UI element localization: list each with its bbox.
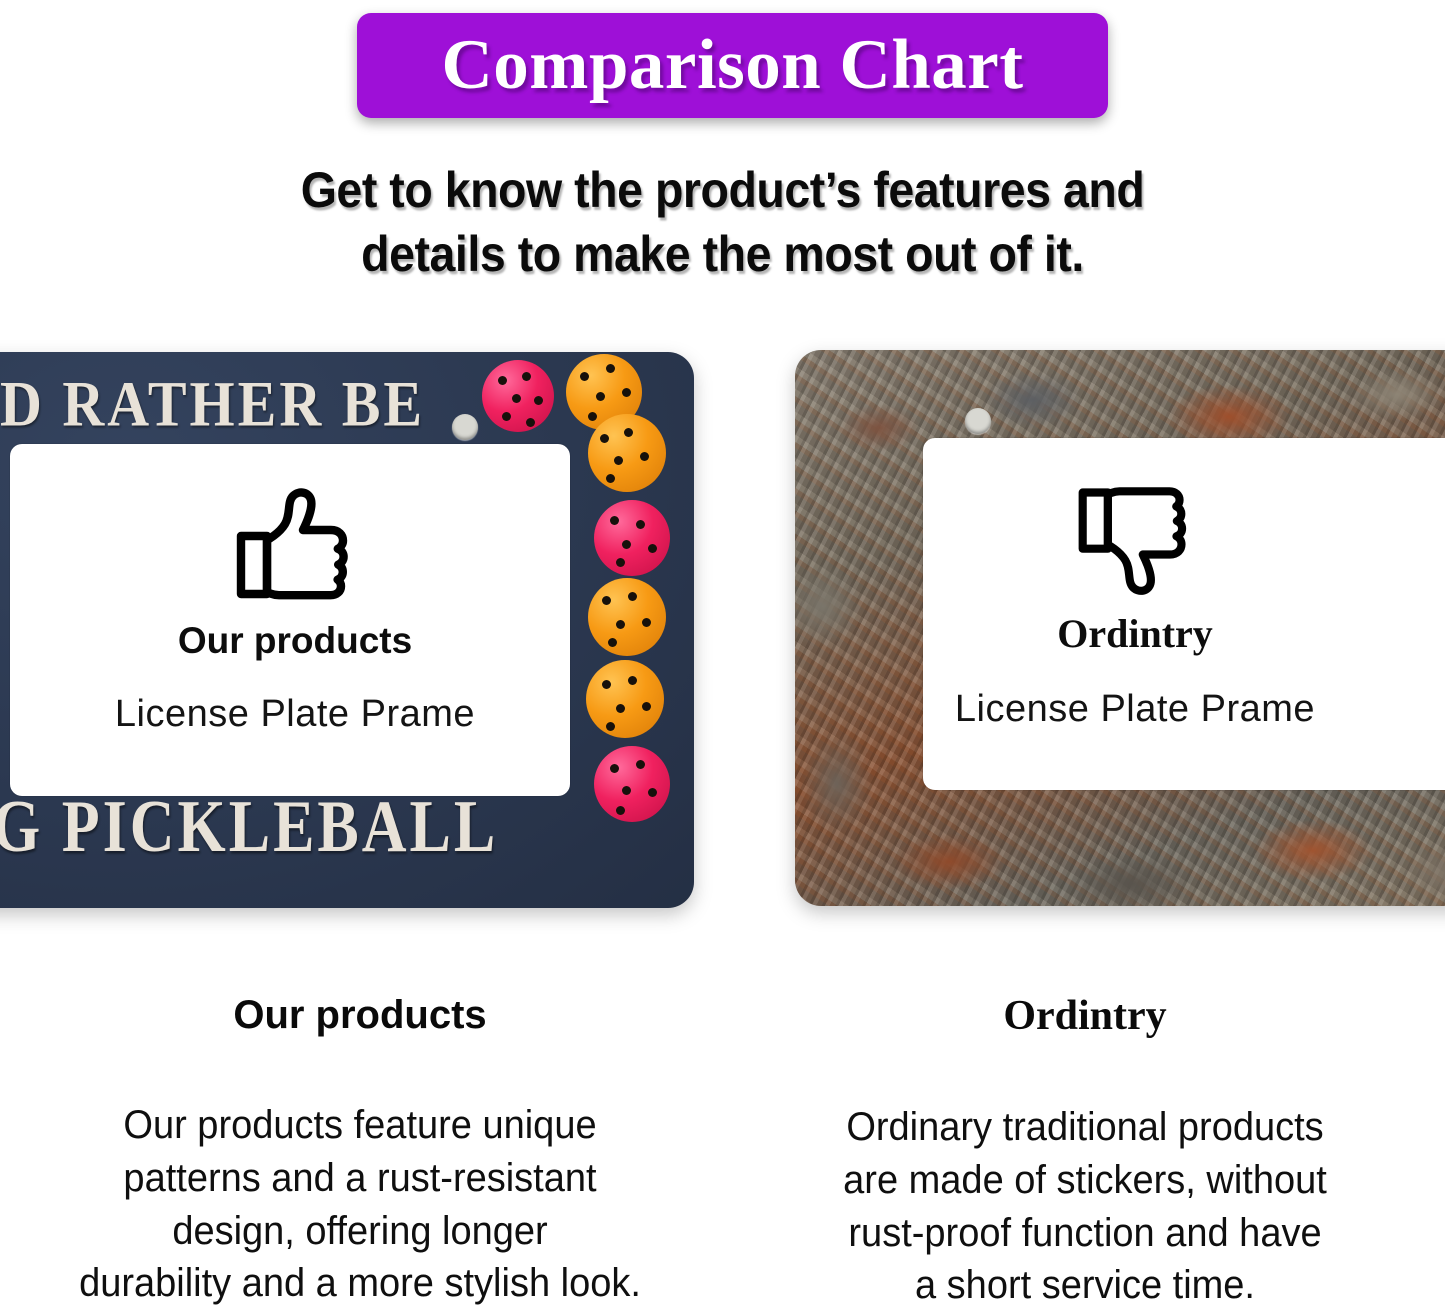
our-product-column-heading: Our products [20, 995, 700, 1035]
title-banner-bg: Comparison Chart [357, 13, 1108, 118]
body-line: Our products feature unique [37, 1099, 683, 1152]
pickleball-orange [588, 414, 666, 492]
body-line: durability and a more stylish look. [37, 1257, 683, 1310]
title-banner: Comparison Chart [357, 13, 1108, 118]
screw-hole [452, 414, 478, 440]
body-line: a short service time. [762, 1259, 1408, 1312]
ordinary-product-column-body: Ordinary traditional products are made o… [762, 1101, 1408, 1312]
body-line: are made of stickers, without [762, 1154, 1408, 1207]
ordinary-product-column-heading: Ordintry [745, 995, 1425, 1037]
ordinary-product-overlay: Ordintry License Plate Prame [855, 480, 1415, 728]
body-line: design, offering longer [37, 1205, 683, 1258]
subtitle: Get to know the product’s features and d… [51, 158, 1395, 286]
ordinary-product-overlay-subtitle: License Plate Prame [855, 690, 1415, 728]
body-line: rust-proof function and have [762, 1207, 1408, 1260]
body-line: Ordinary traditional products [762, 1101, 1408, 1154]
page-title: Comparison Chart [442, 30, 1024, 101]
pickleball-pink [482, 360, 554, 432]
subtitle-line-2: details to make the most out of it. [51, 222, 1395, 286]
body-line: patterns and a rust-resistant [37, 1152, 683, 1205]
our-product-column: Our products Our products feature unique… [20, 995, 700, 1310]
pickleball-orange [586, 660, 664, 738]
ordinary-product-column: Ordintry Ordinary traditional products a… [745, 995, 1425, 1312]
our-product-overlay-title: Our products [45, 622, 545, 659]
our-product-overlay-subtitle: License Plate Prame [45, 695, 545, 733]
our-product-column-body: Our products feature unique patterns and… [37, 1099, 683, 1310]
plate-bottom-text: G PICKLEBALL [0, 785, 498, 870]
pickleball-pink [594, 500, 670, 576]
screw-hole [965, 408, 991, 434]
pickleball-pink [594, 746, 670, 822]
comparison-columns: Our products Our products feature unique… [0, 995, 1445, 1314]
thumbs-up-icon [231, 486, 359, 606]
product-image-row: D RATHER BE G PICKLEBALL [0, 344, 1445, 914]
our-product-overlay: Our products License Plate Prame [45, 486, 545, 733]
subtitle-line-1: Get to know the product’s features and [51, 158, 1395, 222]
ordinary-product-overlay-title: Ordintry [855, 614, 1415, 654]
pickleball-orange [588, 578, 666, 656]
thumbs-down-icon [1073, 480, 1197, 598]
plate-top-text: D RATHER BE [0, 366, 425, 441]
